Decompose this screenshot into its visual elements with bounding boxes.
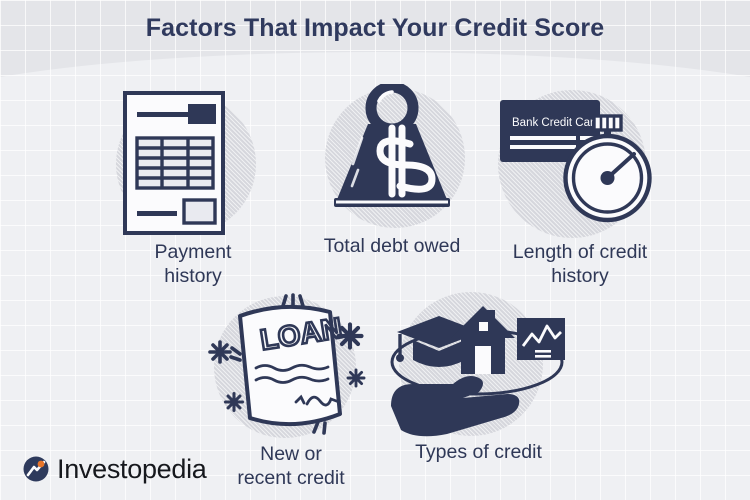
label-line-1: Length of credit <box>513 240 647 264</box>
credit-card-stopwatch-icon: Bank Credit Card <box>488 98 664 235</box>
factor-card-total-debt-owed: Total debt owed <box>297 84 487 284</box>
investopedia-mark-icon <box>22 455 50 483</box>
bill-document-icon <box>122 90 226 241</box>
factor-card-types-of-credit: Types of credit <box>381 288 576 488</box>
label-line-2: history <box>155 264 232 288</box>
house-glyph <box>451 306 515 374</box>
factor-card-payment-history: Payment history <box>98 88 288 288</box>
label-line-1: Payment <box>155 240 232 264</box>
factor-label-length-of-credit-history: Length of credit history <box>513 240 647 288</box>
factor-card-new-or-recent-credit: LOAN New or recent credit <box>196 290 386 490</box>
investment-chart-glyph <box>517 318 565 360</box>
investopedia-wordmark: Investopedia <box>57 455 207 483</box>
factor-label-payment-history: Payment history <box>155 240 232 288</box>
factor-label-new-or-recent-credit: New or recent credit <box>237 442 344 490</box>
factor-label-total-debt-owed: Total debt owed <box>324 234 461 258</box>
factor-card-length-of-credit-history: Bank Credit Card <box>480 84 680 294</box>
page-title: Factors That Impact Your Credit Score <box>0 14 750 43</box>
svg-text:Bank Credit Card: Bank Credit Card <box>512 117 600 129</box>
label-line-2: history <box>513 264 647 288</box>
label-line-1: New or <box>237 442 344 466</box>
weight-dollar-icon <box>322 84 462 231</box>
investopedia-logo[interactable]: Investopedia <box>22 455 207 483</box>
infographic-canvas: Factors That Impact Your Credit Score <box>0 0 750 500</box>
label-line-1: Total debt owed <box>324 234 461 258</box>
label-line-2: recent credit <box>237 466 344 490</box>
loan-paper-icon: LOAN <box>204 292 372 443</box>
hand-holding-assets-icon <box>387 294 567 447</box>
